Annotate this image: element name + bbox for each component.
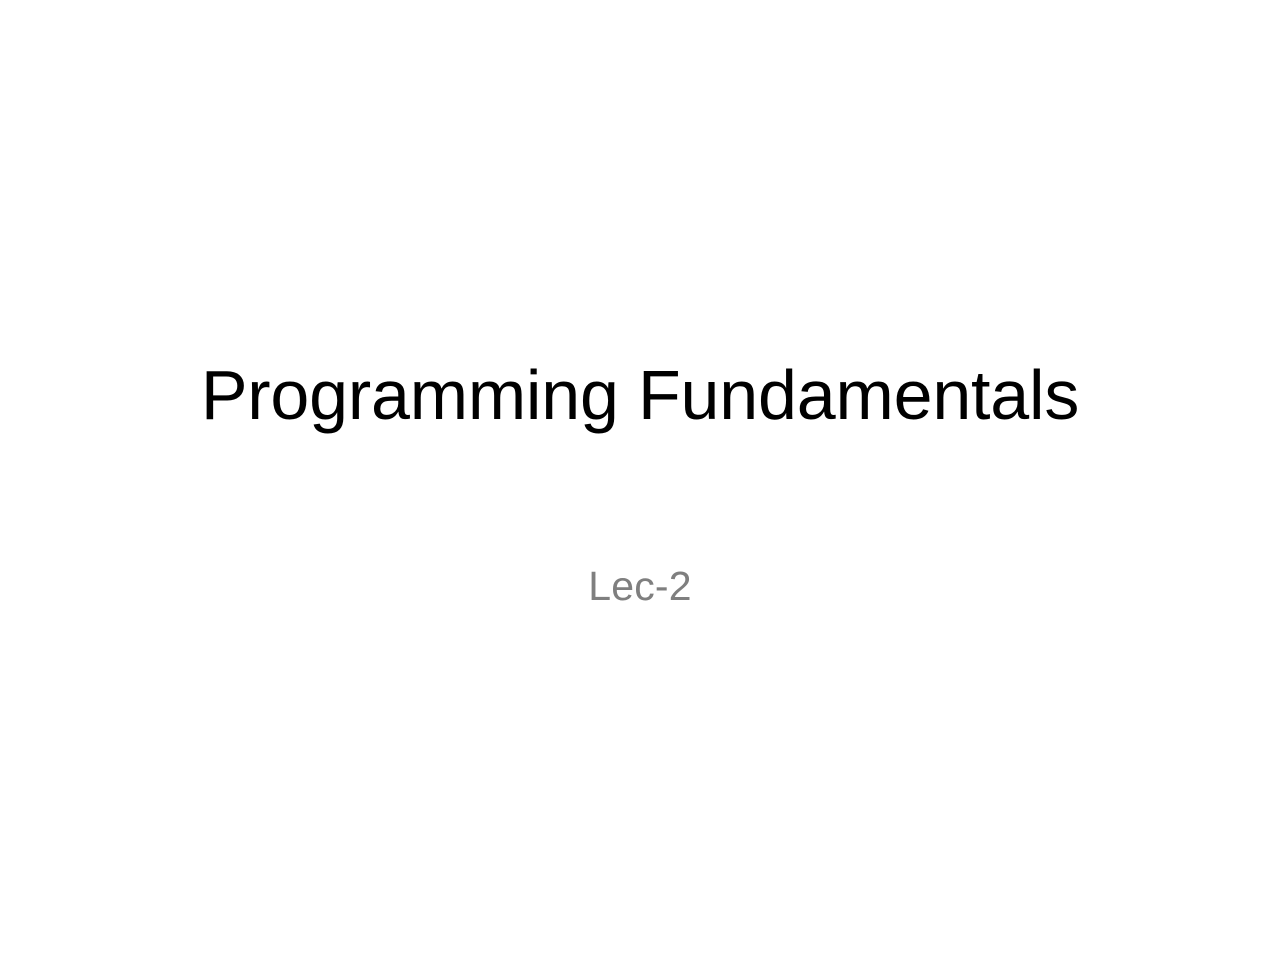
slide-canvas: Programming Fundamentals Lec-2	[0, 0, 1280, 960]
subtitle-placeholder[interactable]: Lec-2	[192, 552, 1088, 622]
slide-title: Programming Fundamentals	[201, 354, 1079, 437]
slide-subtitle: Lec-2	[588, 562, 692, 611]
title-placeholder[interactable]: Programming Fundamentals	[128, 330, 1152, 460]
